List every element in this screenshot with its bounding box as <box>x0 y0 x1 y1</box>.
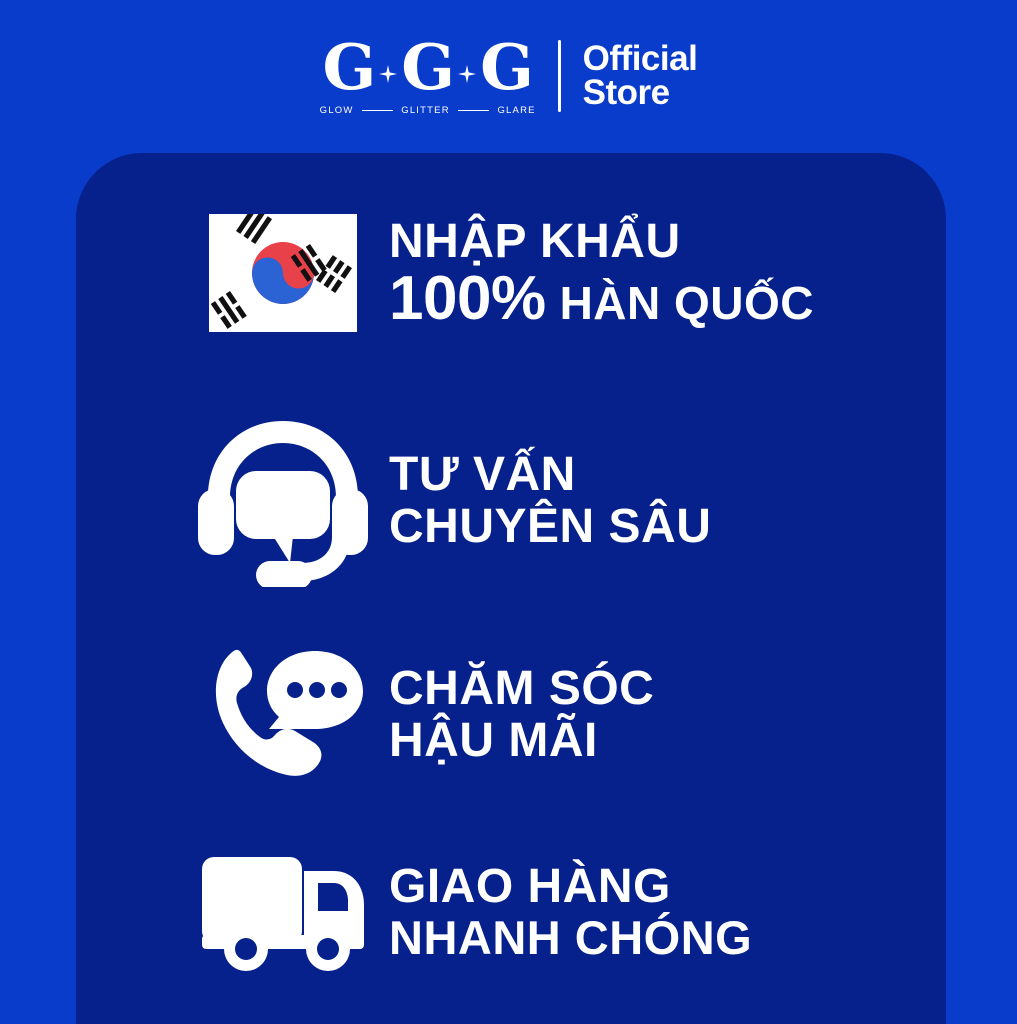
headset-support-icon <box>190 415 375 587</box>
brand-letter-1: G <box>322 36 375 99</box>
feature-import-percentage: 100% <box>389 268 546 330</box>
feature-after-sales: CHĂM SÓC HẬU MÃI <box>190 645 654 785</box>
feature-consulting-labels: TƯ VẤN CHUYÊN SÂU <box>389 449 711 553</box>
phone-chat-icon <box>190 645 375 785</box>
feature-import-line1: NHẬP KHẨU <box>389 216 814 268</box>
feature-consulting-line1: TƯ VẤN <box>389 449 711 501</box>
feature-fast-delivery-labels: GIAO HÀNG NHANH CHÓNG <box>389 861 752 964</box>
feature-fast-delivery-line2: NHANH CHÓNG <box>389 913 752 964</box>
tagline-glitter: GLITTER <box>401 105 450 116</box>
tagline-rule-right <box>458 110 490 111</box>
feature-after-sales-labels: CHĂM SÓC HẬU MÃI <box>389 663 654 767</box>
official-store-line1: Official <box>583 42 698 76</box>
sparkle-icon <box>375 39 401 97</box>
brand-letter-2: G <box>401 36 454 99</box>
brand-tagline: GLOW GLITTER GLARE <box>320 105 536 116</box>
tagline-rule-left <box>362 110 394 111</box>
delivery-truck-icon <box>190 853 375 971</box>
logo-lockup: G G G GLOW GLITTER GL <box>320 36 698 116</box>
korea-flag-icon <box>190 210 375 336</box>
feature-import-line2: 100% HÀN QUỐC <box>389 268 814 330</box>
feature-after-sales-line2: HẬU MÃI <box>389 715 654 767</box>
feature-consulting-line2: CHUYÊN SÂU <box>389 501 711 553</box>
feature-import-country: HÀN QUỐC <box>560 280 814 326</box>
feature-import-labels: NHẬP KHẨU 100% HÀN QUỐC <box>389 216 814 330</box>
feature-fast-delivery: GIAO HÀNG NHANH CHÓNG <box>190 853 752 971</box>
brand-header: G G G GLOW GLITTER GL <box>0 0 1017 152</box>
brand-letters: G G G <box>322 36 532 99</box>
feature-card: NHẬP KHẨU 100% HÀN QUỐC <box>76 153 946 1024</box>
feature-import-origin: NHẬP KHẨU 100% HÀN QUỐC <box>190 210 814 336</box>
vertical-divider <box>558 40 561 112</box>
brand-letter-3: G <box>480 36 533 99</box>
feature-consulting: TƯ VẤN CHUYÊN SÂU <box>190 415 711 587</box>
feature-after-sales-line1: CHĂM SÓC <box>389 663 654 715</box>
sparkle-icon <box>454 39 480 97</box>
ggg-brand: G G G GLOW GLITTER GL <box>320 36 536 116</box>
official-store-line2: Store <box>583 76 698 110</box>
tagline-glow: GLOW <box>320 105 354 116</box>
tagline-glare: GLARE <box>497 105 535 116</box>
official-store-label: Official Store <box>583 42 698 110</box>
feature-fast-delivery-line1: GIAO HÀNG <box>389 861 752 913</box>
